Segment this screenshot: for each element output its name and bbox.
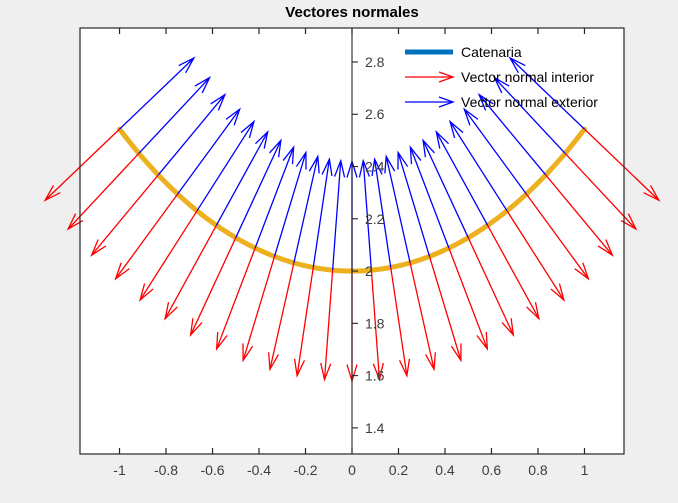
y-tick-label: 2.4: [365, 159, 385, 175]
y-tick-label: 2.8: [365, 54, 385, 70]
x-tick-label: 1: [581, 462, 589, 478]
x-tick-label: 0: [348, 462, 356, 478]
x-tick-label: 0.6: [482, 462, 502, 478]
x-tick-label: -0.4: [247, 462, 271, 478]
x-tick-label: -0.2: [293, 462, 317, 478]
page-title: Vectores normales: [285, 4, 418, 21]
y-tick-label: 1.4: [365, 420, 385, 436]
matlab-figure-window: Vectores normales -1-0.8-0.6-0.4-0.200.2…: [0, 0, 678, 503]
x-tick-label: 0.4: [435, 462, 455, 478]
y-tick-label: 1.6: [365, 368, 385, 384]
y-tick-label: 1.8: [365, 315, 385, 331]
y-tick-label: 2: [365, 263, 373, 279]
x-tick-label: -1: [113, 462, 126, 478]
x-tick-label: 0.2: [389, 462, 409, 478]
x-tick-label: -0.8: [154, 462, 178, 478]
legend-item-label[interactable]: Catenaria: [461, 44, 522, 60]
legend-item-label[interactable]: Vector normal exterior: [461, 94, 598, 110]
x-tick-label: 0.8: [528, 462, 548, 478]
legend-item-label[interactable]: Vector normal interior: [461, 69, 594, 85]
y-tick-label: 2.2: [365, 211, 385, 227]
x-tick-label: -0.6: [200, 462, 224, 478]
plot-canvas: Vectores normales -1-0.8-0.6-0.4-0.200.2…: [0, 0, 678, 503]
y-tick-label: 2.6: [365, 106, 385, 122]
